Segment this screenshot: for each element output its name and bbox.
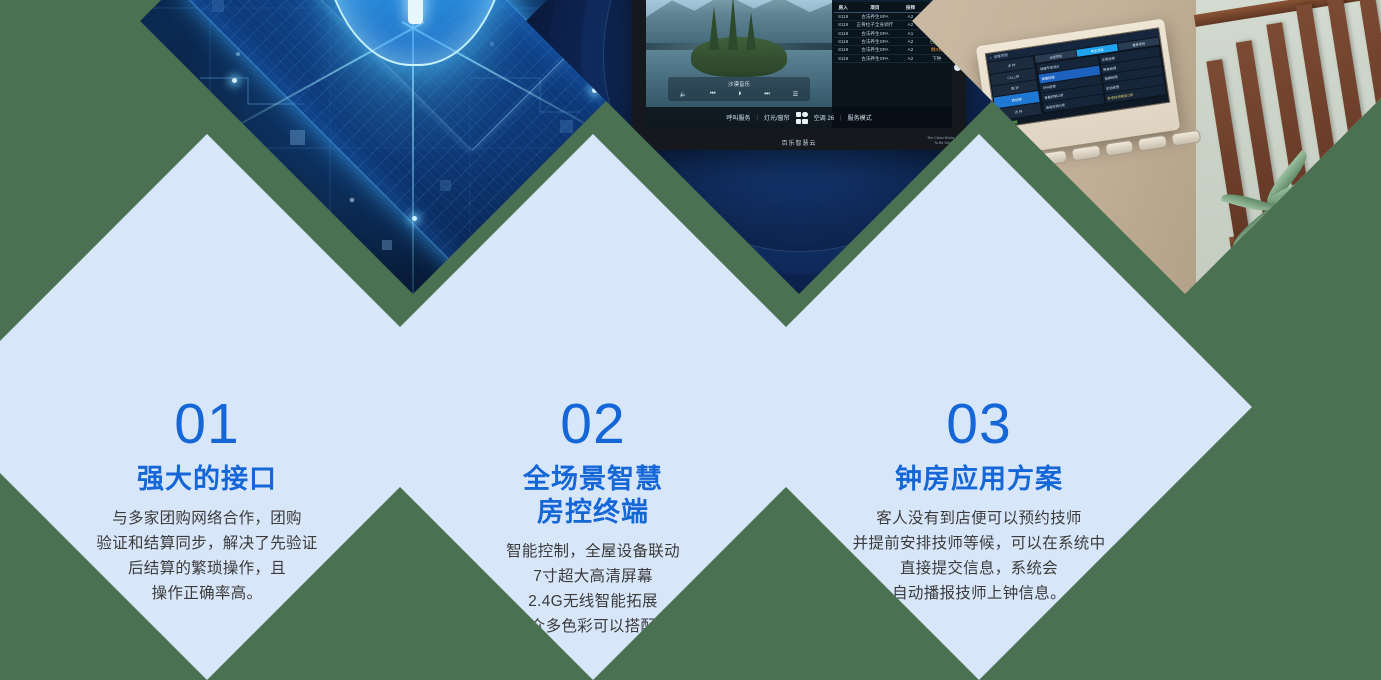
card-title: 强大的接口 (137, 463, 277, 496)
panel-home-icon: ⌂ (989, 55, 992, 59)
wood-slat (1357, 0, 1381, 243)
cell-room: 8119 (834, 13, 852, 20)
cell-tech: A2 (897, 55, 923, 62)
screen-bottom-bar[interactable]: 呼叫服务 | 灯光/窗帘 空调 26 | 服务模式 (646, 107, 952, 128)
media-controls[interactable]: 🔈 ⏮ ⏵ ⏭ ☰ (668, 91, 809, 98)
wood-rail (1194, 0, 1381, 27)
tree (709, 6, 719, 50)
card-body-line: 与多家团购网络合作，团购 (96, 506, 317, 531)
cell-item: 古法养生SPA (852, 46, 897, 53)
card-body-line: 2.4G无线智能拓展 (506, 589, 680, 614)
card-body-line: 客人没有到店便可以预约技师 (853, 506, 1106, 531)
status-chip (1009, 120, 1017, 124)
card-body-line: 并提前安排技师等候，可以在系统中 (853, 531, 1106, 556)
th-item: 项目 (852, 4, 897, 11)
card-title-line: 全场景智慧 (523, 463, 663, 496)
cell-room: 8119 (834, 38, 852, 45)
divider: | (840, 115, 842, 121)
card-body-line: 7寸超大高清屏幕 (506, 564, 680, 589)
card-title-line: 房控终端 (523, 496, 663, 529)
glow-node (232, 78, 237, 83)
btn-light-curtain[interactable]: 灯光/窗帘 (764, 113, 790, 122)
tablet-logo-secondary: The Clean WorldTo Be Smart (927, 136, 954, 146)
tree (728, 0, 738, 50)
cell-tech: A2 (897, 38, 923, 45)
tablet-logo: 百乐智慧云 (632, 138, 966, 147)
card-number: 01 (174, 396, 239, 453)
cell-item: 古法养生SPA (852, 55, 897, 62)
card-body: 客人没有到店便可以预约技师 并提前安排技师等候，可以在系统中 直接提交信息，系统… (853, 506, 1106, 606)
list-icon[interactable]: ☰ (793, 91, 798, 98)
panel-column-left: 保健专家调疗 保健经理 SPA经理 音量控制/2项 音高空调/3项 (1037, 56, 1104, 112)
island (691, 36, 788, 77)
card-title-line: 强大的接口 (137, 463, 277, 496)
tablet-screen[interactable]: 沙漠音乐 🔈 ⏮ ⏵ ⏭ ☰ (646, 0, 952, 128)
prev-icon[interactable]: ⏮ (710, 91, 715, 98)
card-body: 与多家团购网络合作，团购 验证和结算同步，解决了先验证 后结算的繁琐操作，且 操… (96, 506, 317, 606)
cell-item: 古法养生SPA (852, 13, 897, 20)
panel-column-right: 正骨经理 推拿经理 按摩经理 足浴经理 要求技师换型/2项 (1099, 47, 1166, 103)
cell-item: 古法养生SPA (852, 30, 897, 37)
th-tech: 技师 (897, 4, 923, 11)
card-title: 全场景智慧 房控终端 (523, 463, 663, 529)
glow-node (412, 216, 417, 221)
potted-plant (1212, 133, 1362, 283)
card-body-line: 操作正确率高。 (96, 581, 317, 606)
window-area (1196, 0, 1381, 294)
card-body-line: 验证和结算同步，解决了先验证 (96, 531, 317, 556)
btn-aircon[interactable]: 空调 26 (814, 113, 834, 122)
potted-plant (1322, 119, 1381, 239)
cell-item: 古法养生SPA (852, 38, 897, 45)
btn-service-mode[interactable]: 服务模式 (848, 113, 872, 122)
home-grid-icon[interactable] (796, 112, 808, 124)
volume-icon[interactable]: 🔈 (680, 91, 687, 98)
card-body-line: 智能控制，全屋设备联动 (506, 539, 680, 564)
cell-room: 8119 (834, 46, 852, 53)
card-body-line: 自动播报技师上钟信息。 (853, 581, 1106, 606)
next-icon[interactable]: ⏭ (764, 91, 769, 98)
card-title: 钟房应用方案 (895, 463, 1063, 496)
table-row: 8119 古法养生SPA A2 下钟 (834, 55, 950, 63)
card-body-line: 后结算的繁琐操作，且 (96, 556, 317, 581)
card-body-line: 众多色彩可以搭配 (506, 614, 680, 639)
media-title: 沙漠音乐 (668, 80, 809, 88)
status-chip (999, 121, 1007, 125)
panel-screen[interactable]: ⌂ 全屋控制 点 钟 CALL钟 圈 钟 转加钟 选 钟 (985, 27, 1170, 128)
media-overlay[interactable]: 沙漠音乐 🔈 ⏮ ⏵ ⏭ ☰ (668, 77, 809, 101)
cell-item: 正骨拉子全身调疗 (852, 21, 897, 28)
card-body-line: 直接提交信息，系统会 (853, 556, 1106, 581)
divider: | (756, 115, 758, 121)
card-body: 智能控制，全屋设备联动 7寸超大高清屏幕 2.4G无线智能拓展 众多色彩可以搭配 (506, 539, 680, 639)
btn-call-service[interactable]: 呼叫服务 (726, 113, 750, 122)
cell-room: 8119 (834, 55, 852, 62)
table-row: 8119 古法养生SPA A2 剩3分 (834, 46, 950, 54)
th-room: 房入 (834, 4, 852, 11)
cell-tech: A1 (897, 30, 923, 37)
cell-room: 8119 (834, 30, 852, 37)
play-icon[interactable]: ⏵ (739, 91, 742, 98)
feature-diamond-board: CSI280 沙漠音乐 (0, 0, 1381, 603)
cell-room: 8119 (834, 21, 852, 28)
card-number: 03 (946, 396, 1011, 453)
card-title-line: 钟房应用方案 (895, 463, 1063, 496)
cell-tech: A2 (897, 46, 923, 53)
card-number: 02 (560, 396, 625, 453)
tree (746, 12, 756, 50)
